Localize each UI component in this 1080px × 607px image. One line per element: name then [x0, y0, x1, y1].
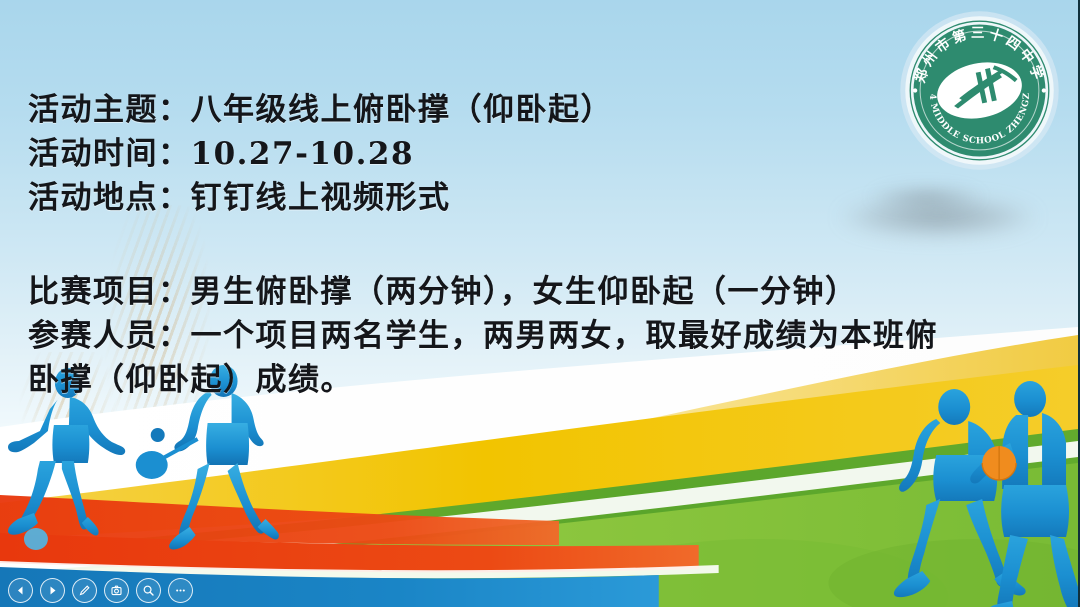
activity-time-line: 活动时间：10.27-10.28	[28, 132, 1038, 176]
presentation-slide: 郑州市第三十四中学 NO.34 MIDDLE SCHOOL ZHENGZHOU …	[0, 0, 1080, 607]
paragraph-spacer	[28, 220, 1038, 270]
media-control-bar[interactable]	[8, 578, 193, 603]
pen-icon	[78, 584, 91, 597]
screenshot-icon	[110, 584, 123, 597]
basketball-players-silhouette	[894, 381, 1078, 607]
back-button[interactable]	[8, 578, 33, 603]
ellipsis-icon	[174, 584, 187, 597]
play-icon	[47, 585, 58, 596]
annotate-button[interactable]	[72, 578, 97, 603]
slide-text-block: 活动主题：八年级线上俯卧撑（仰卧起） 活动时间：10.27-10.28 活动地点…	[28, 88, 1038, 402]
back-arrow-icon	[15, 585, 26, 596]
participants-line: 参赛人员：一个项目两名学生，两男两女，取最好成绩为本班俯	[28, 314, 1038, 358]
search-icon	[142, 584, 155, 597]
screenshot-button[interactable]	[104, 578, 129, 603]
competition-events-line: 比赛项目：男生俯卧撑（两分钟），女生仰卧起（一分钟）	[28, 270, 1038, 314]
participants-line-cont: 卧撑（仰卧起）成绩。	[28, 358, 1038, 402]
school-logo: 郑州市第三十四中学 NO.34 MIDDLE SCHOOL ZHENGZHOU	[897, 8, 1062, 173]
activity-theme-line: 活动主题：八年级线上俯卧撑（仰卧起）	[28, 88, 1038, 132]
play-button[interactable]	[40, 578, 65, 603]
more-button[interactable]	[168, 578, 193, 603]
activity-location-line: 活动地点：钉钉线上视频形式	[28, 176, 1038, 220]
zoom-button[interactable]	[136, 578, 161, 603]
